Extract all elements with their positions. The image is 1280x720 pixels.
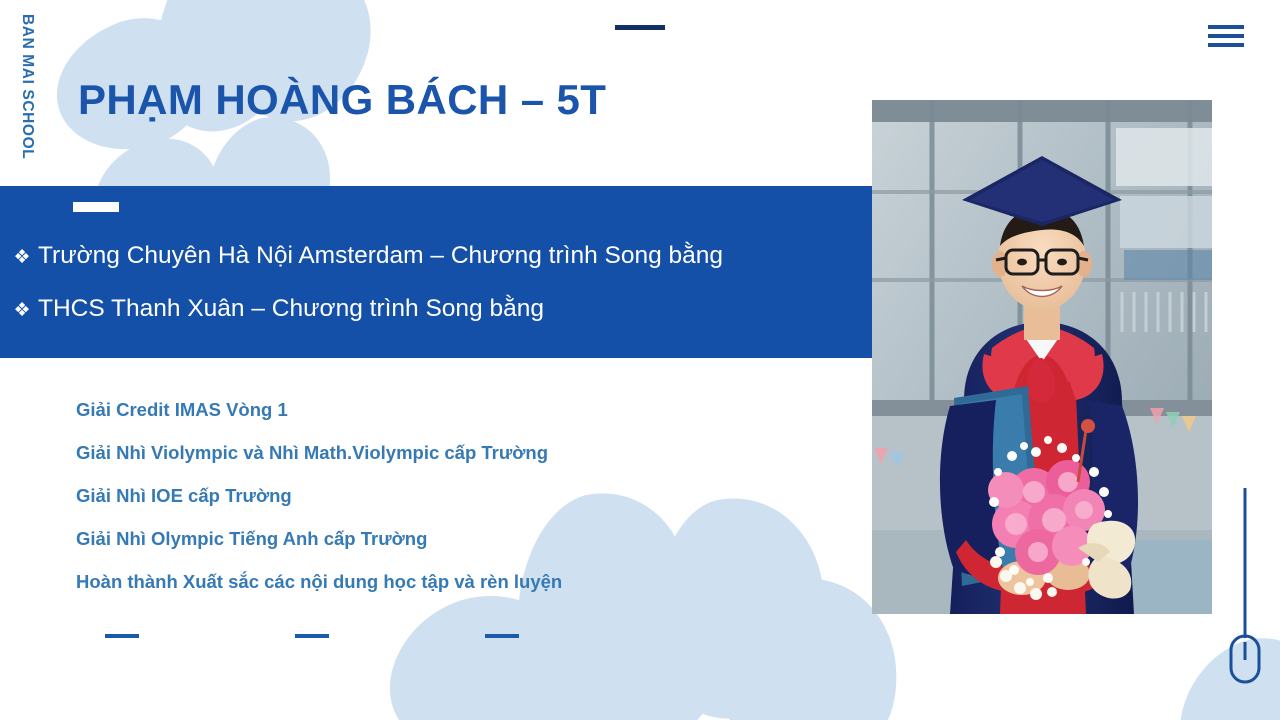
menu-bar-3 [1208, 43, 1244, 47]
menu-bar-2 [1208, 34, 1244, 38]
top-accent-dash [615, 25, 665, 30]
achievements-list: Giải Credit IMAS Vòng 1 Giải Nhì Violymp… [76, 388, 836, 603]
school-name-label: BAN MAI SCHOOL [18, 14, 36, 159]
school-entry-label: THCS Thanh Xuân – Chương trình Song bằng [38, 283, 544, 334]
list-item: Hoàn thành Xuất sắc các nội dung học tập… [76, 560, 836, 603]
diamond-bullet-icon: ❖ [6, 232, 38, 283]
page-title: PHẠM HOÀNG BÁCH – 5T [78, 76, 606, 124]
list-item: Giải Nhì Violympic và Nhì Math.Violympic… [76, 431, 836, 474]
banner-accent-dash [73, 202, 119, 212]
school-entry-label: Trường Chuyên Hà Nội Amsterdam – Chương … [38, 230, 723, 281]
hamburger-menu-icon[interactable] [1208, 22, 1244, 50]
mouse-scroll-icon[interactable] [1228, 488, 1262, 698]
menu-bar-1 [1208, 25, 1244, 29]
school-name-vertical: BAN MAI SCHOOL [2, 8, 46, 188]
presentation-slide: BAN MAI SCHOOL PHẠM HOÀNG BÁCH – 5T ❖ Tr… [0, 0, 1280, 720]
bottom-accent-dash-2 [295, 634, 329, 638]
list-item: Giải Credit IMAS Vòng 1 [76, 388, 836, 431]
list-item: Giải Nhì Olympic Tiếng Anh cấp Trường [76, 517, 836, 560]
list-item: Giải Nhì IOE cấp Trường [76, 474, 836, 517]
schools-banner: ❖ Trường Chuyên Hà Nội Amsterdam – Chươn… [0, 186, 872, 358]
schools-list: ❖ Trường Chuyên Hà Nội Amsterdam – Chươn… [6, 230, 866, 336]
list-item: ❖ Trường Chuyên Hà Nội Amsterdam – Chươn… [6, 230, 866, 283]
bottom-accent-dash-3 [485, 634, 519, 638]
list-item: ❖ THCS Thanh Xuân – Chương trình Song bằ… [6, 283, 866, 336]
graduation-portrait-photo [872, 100, 1212, 614]
diamond-bullet-icon: ❖ [6, 285, 38, 336]
bottom-accent-dash-1 [105, 634, 139, 638]
